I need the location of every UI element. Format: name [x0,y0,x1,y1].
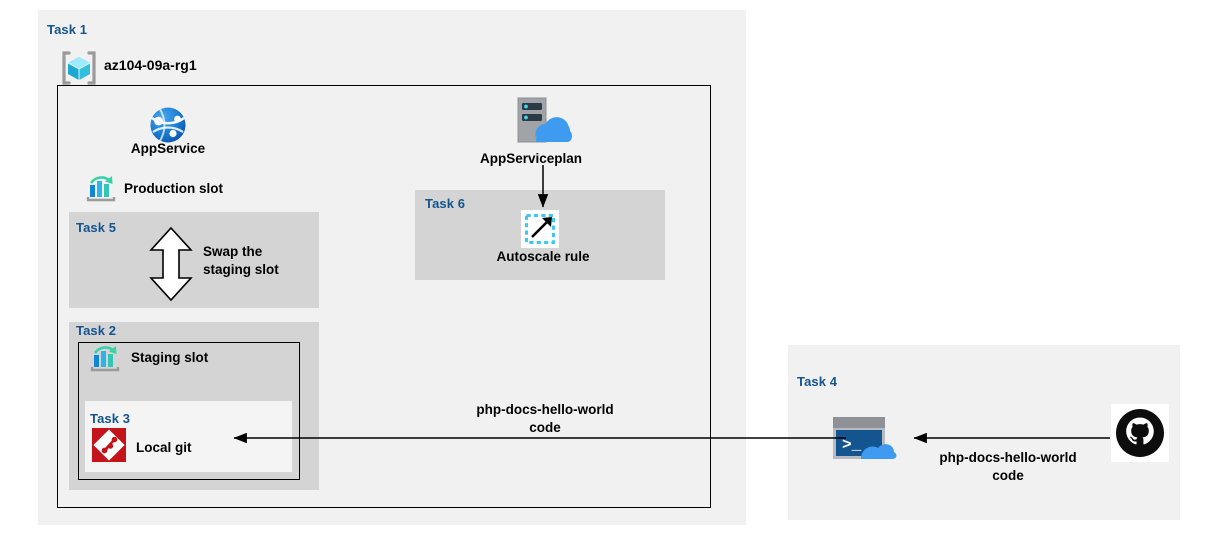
swap-staging-slot-label: Swap the staging slot [203,243,279,279]
production-slot-label: Production slot [124,181,223,196]
edge-label-code-to-local-git: php-docs-hello-world code [476,401,613,437]
git-repository-icon [92,428,126,462]
app-service-plan-icon [512,96,574,148]
deployment-slot-icon [90,345,122,375]
autoscale-rule-icon [521,210,559,248]
app-service-globe-icon [147,104,189,146]
task4-label: Task 4 [797,374,837,389]
diagram-canvas: Task 1 az104-09a-rg1 [0,0,1218,545]
task2-label: Task 2 [76,323,116,338]
resource-group-cube-icon [60,50,98,86]
cloud-shell-icon: >_ [831,415,901,463]
app-service-label: AppService [131,141,205,156]
staging-slot-label: Staging slot [131,350,208,365]
local-git-label: Local git [136,440,192,455]
task3-label: Task 3 [90,411,130,426]
deployment-slot-icon [86,175,118,205]
task6-label: Task 6 [425,196,465,211]
github-octocat-icon [1111,404,1169,462]
autoscale-rule-label: Autoscale rule [496,249,589,264]
svg-text:>_: >_ [842,436,862,454]
double-headed-vertical-arrow-icon [144,226,198,302]
edge-label-github-to-cloud-shell: php-docs-hello-world code [939,449,1076,485]
resource-group-name: az104-09a-rg1 [104,57,197,73]
task1-label: Task 1 [47,22,87,37]
task5-label: Task 5 [76,220,116,235]
app-service-plan-label: AppServiceplan [480,151,582,166]
